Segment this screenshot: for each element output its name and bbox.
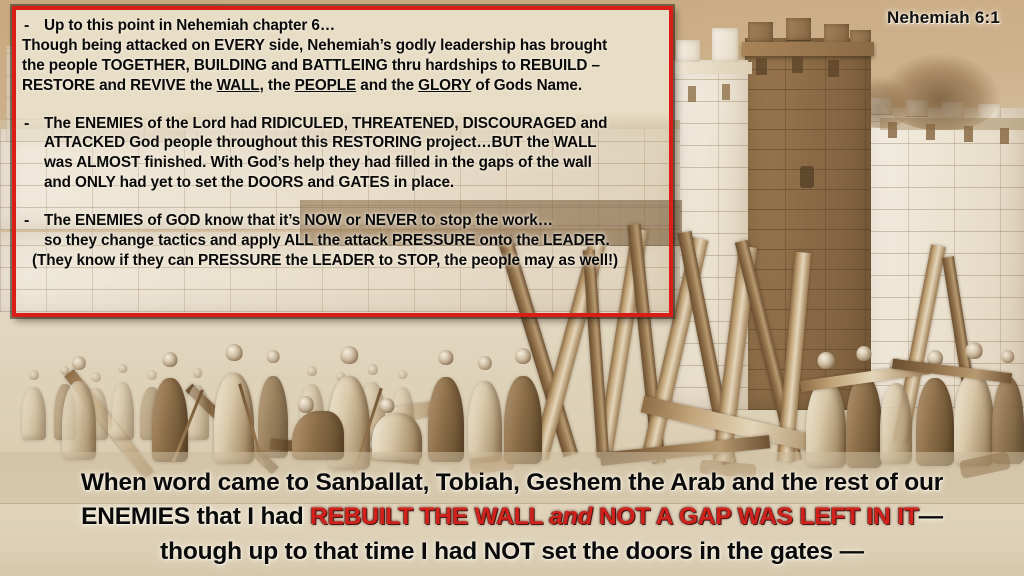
underlined-word-glory: GLORY [418,77,471,94]
note-line: Though being attacked on EVERY side, Neh… [22,36,607,56]
note-line: was ALMOST finished. With God’s help the… [44,153,607,173]
note-line: and ONLY had yet to set the DOORS and GA… [44,173,607,193]
worker-figure-icon [292,396,344,460]
underlined-word-people: PEOPLE [295,77,356,94]
verse-line-1: When word came to Sanballat, Tobiah, Ges… [0,466,1024,501]
merlon-icon [676,40,700,62]
note-paragraph: - Up to this point in Nehemiah chapter 6… [22,16,661,96]
verse-highlight-2: NOT A GAP WAS LEFT IN IT [592,503,918,530]
worker-figure-icon [152,352,188,462]
underlined-word-wall: WALL [217,77,260,94]
verse-highlight-italic: and [549,503,592,530]
verse-line-2-prefix: ENEMIES that I had [81,503,310,530]
verse-text: When word came to Sanballat, Tobiah, Ges… [0,466,1024,570]
note-paragraph-text: The ENEMIES of GOD know that it’s NOW or… [44,211,618,271]
arrow-slit-icon [688,86,696,102]
tower-window-icon [800,166,814,188]
slide-canvas: Nehemiah 6:1 - Up to this point in Nehem… [0,0,1024,576]
merlon-icon [824,24,849,44]
worker-figure-icon [62,356,96,460]
note-line: the people TOGETHER, BUILDING and BATTLE… [22,56,607,76]
merlon-icon [748,22,773,42]
note-line: Up to this point in Nehemiah chapter 6… [44,16,607,36]
note-line: The ENEMIES of GOD know that it’s NOW or… [44,211,618,231]
verse-highlight-1: REBUILT THE WALL [310,503,549,530]
worker-figure-icon [846,346,882,468]
merlon-icon [786,18,811,40]
note-line: The ENEMIES of the Lord had RIDICULED, T… [44,114,607,134]
worker-figure-icon [504,348,542,464]
note-line: so they change tactics and apply ALL the… [44,231,618,251]
arrow-slit-icon [1000,128,1009,144]
worker-figure-icon [214,344,254,464]
worker-figure-icon [806,352,846,468]
note-paragraph-text: The ENEMIES of the Lord had RIDICULED, T… [44,114,607,194]
worker-figure-icon [428,350,464,462]
tower-cornice [742,42,874,56]
verse-em-dash: — [919,503,943,530]
arrow-slit-icon [828,60,839,77]
note-line: (They know if they can PRESSURE the LEAD… [32,251,618,271]
scripture-reference-label: Nehemiah 6:1 [887,8,1000,28]
note-bullet-dash: - [22,114,44,194]
arrow-slit-icon [722,84,730,100]
teaching-notes-content: - Up to this point in Nehemiah chapter 6… [16,10,669,271]
note-paragraph-text: Up to this point in Nehemiah chapter 6… … [44,16,607,96]
worker-figure-icon [992,350,1024,464]
worker-figure-icon [468,356,502,462]
tower-cornice [668,62,752,74]
worker-figure-icon [954,342,994,466]
worker-figure-icon [22,370,46,440]
teaching-notes-panel: - Up to this point in Nehemiah chapter 6… [12,6,673,317]
worker-figure-icon [112,364,134,440]
arrow-slit-icon [792,56,803,73]
verse-line-3: though up to that time I had NOT set the… [0,535,1024,570]
worker-figure-icon [258,350,288,458]
note-paragraph: - The ENEMIES of the Lord had RIDICULED,… [22,114,661,194]
worker-figure-icon [372,398,422,460]
note-paragraph: - The ENEMIES of GOD know that it’s NOW … [22,211,661,271]
note-line: ATTACKED God people throughout this REST… [44,133,607,153]
verse-line-2: ENEMIES that I had REBUILT THE WALL and … [0,500,1024,535]
merlon-icon [712,28,738,62]
arrow-slit-icon [756,58,767,75]
note-line-with-underlines: RESTORE and REVIVE the WALL, the PEOPLE … [22,76,607,96]
